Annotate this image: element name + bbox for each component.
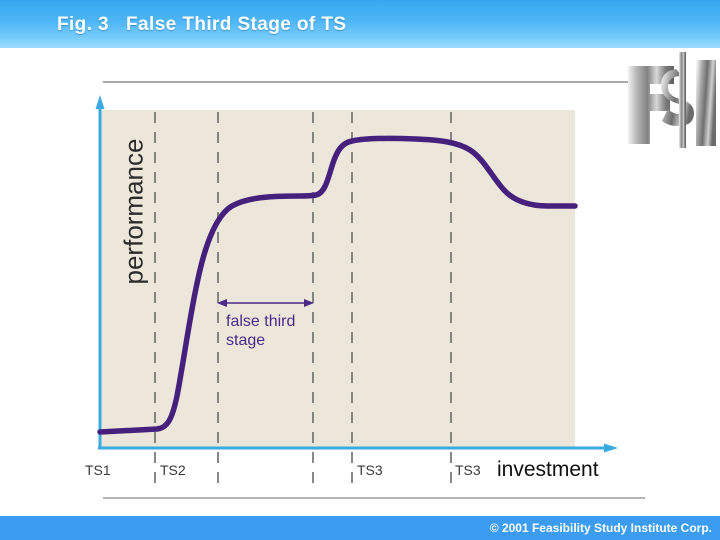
xtick-label-ts3-a: TS3 — [357, 462, 383, 478]
x-axis-title: investment — [497, 458, 599, 482]
y-axis-arrow — [96, 95, 105, 109]
false-third-stage-annotation: false third stage — [226, 312, 295, 350]
xtick-label-ts2: TS2 — [160, 462, 186, 478]
slide-canvas: Fig. 3 False Third Stage of TS — [0, 0, 720, 540]
plot-area-background — [100, 110, 575, 448]
y-axis-title: performance — [119, 122, 150, 302]
x-axis-arrow — [604, 444, 618, 453]
chart-figure — [0, 0, 720, 540]
copyright-notice: © 2001 Feasibility Study Institute Corp. — [490, 521, 712, 535]
xtick-label-ts3-b: TS3 — [455, 462, 481, 478]
xtick-label-ts1: TS1 — [85, 462, 111, 478]
